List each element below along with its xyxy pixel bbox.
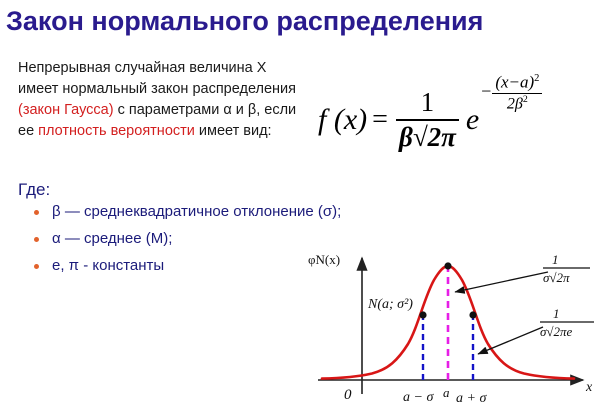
formula-exponent-denominator: 2β2 xyxy=(504,94,531,114)
curve-label: N(a; σ²) xyxy=(367,297,413,312)
normal-distribution-formula: f (x) = 1 β√2π e − (x−a)2 2β2 xyxy=(318,62,600,177)
formula-exponent: − (x−a)2 2β2 xyxy=(481,73,542,114)
formula-exponent-sign: − xyxy=(481,81,491,102)
annotation-1-numerator: 1 xyxy=(552,252,559,267)
page-title: Закон нормального распределения xyxy=(6,6,594,37)
tick-label-a-minus-sigma: a − σ xyxy=(403,390,434,405)
bullet-dash: — xyxy=(65,230,80,247)
formula-fraction: 1 β√2π xyxy=(396,88,459,151)
y-axis-label: φN(x) xyxy=(308,252,340,267)
annotation-2: 1 σ√2πe xyxy=(540,306,594,339)
bullet-symbol: е, π xyxy=(52,257,79,274)
annotation-2-denominator: σ√2πe xyxy=(540,324,573,339)
annotation-1: 1 σ√2π xyxy=(543,252,590,285)
annotation-2-numerator: 1 xyxy=(553,306,560,321)
bullet-text: константы xyxy=(92,257,164,274)
list-item: α — среднее (М); xyxy=(30,225,360,252)
intro-highlight-gauss: (закон Гаусса) xyxy=(18,102,114,118)
tick-label-a: a xyxy=(443,385,450,400)
slide-root: Закон нормального распределения Непрерыв… xyxy=(0,0,600,407)
intro-text-1: Непрерывная случайная величина Х имеет н… xyxy=(18,60,296,97)
where-label: Где: xyxy=(18,180,50,200)
annotation-1-leader xyxy=(455,272,548,292)
peak-marker xyxy=(444,262,451,269)
formula-fraction-bar xyxy=(396,119,459,121)
x-axis-label: x xyxy=(585,380,593,395)
annotation-1-denominator: σ√2π xyxy=(543,270,570,285)
sigma-left-marker xyxy=(419,311,426,318)
bullet-dot-icon xyxy=(34,264,39,269)
formula-numerator: 1 xyxy=(415,88,441,116)
intro-highlight-density: плотность вероятности xyxy=(38,123,195,139)
bullet-text: среднее (М); xyxy=(84,230,172,247)
normal-curve-chart: φN(x) x N(a; σ²) 1 σ√2π xyxy=(300,252,600,407)
annotation-2-leader xyxy=(478,327,543,354)
bullet-dot-icon xyxy=(34,210,39,215)
bullet-dot-icon xyxy=(34,237,39,242)
intro-paragraph: Непрерывная случайная величина Х имеет н… xyxy=(18,58,303,142)
sigma-right-marker xyxy=(469,311,476,318)
bullet-text: среднеквадратичное отклонение (σ); xyxy=(84,203,341,220)
formula-denominator: β√2π xyxy=(396,123,459,151)
bullet-dash: — xyxy=(65,203,80,220)
formula-equals: = xyxy=(372,104,388,136)
formula-exponent-numerator: (x−a)2 xyxy=(492,73,542,92)
bullet-dash: - xyxy=(83,257,88,274)
intro-text-3: имеет вид: xyxy=(195,123,272,139)
tick-label-a-plus-sigma: a + σ xyxy=(456,391,487,406)
bullet-symbol: β xyxy=(52,203,61,220)
formula-e: e xyxy=(466,103,479,137)
tick-label-origin: 0 xyxy=(344,387,352,403)
bullet-symbol: α xyxy=(52,230,61,247)
formula-lhs: f (x) xyxy=(318,103,367,137)
list-item: β — среднеквадратичное отклонение (σ); xyxy=(30,198,360,225)
